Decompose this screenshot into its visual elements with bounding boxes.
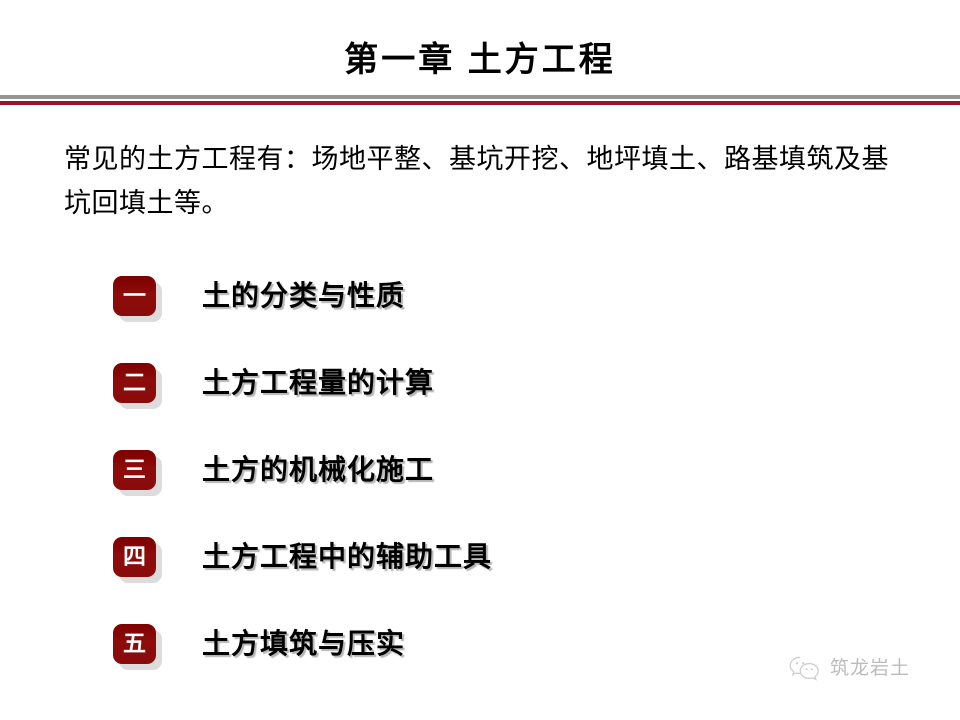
badge-face: 一 xyxy=(113,276,156,316)
list-item[interactable]: 三 土方的机械化施工 xyxy=(0,444,960,531)
list-item[interactable]: 四 土方工程中的辅助工具 xyxy=(0,531,960,618)
watermark: 筑龙岩土 xyxy=(788,655,910,683)
badge-face: 三 xyxy=(113,450,156,490)
intro-paragraph: 常见的土方工程有：场地平整、基坑开挖、地坪填土、路基填筑及基坑回填土等。 xyxy=(64,137,894,225)
slide-canvas: 第一章 土方工程 常见的土方工程有：场地平整、基坑开挖、地坪填土、路基填筑及基坑… xyxy=(0,0,960,720)
wechat-icon xyxy=(788,655,822,683)
badge-face: 二 xyxy=(113,363,156,403)
page-title: 第一章 土方工程 xyxy=(0,38,960,82)
badge-face: 四 xyxy=(113,537,156,577)
section-title-label: 土方的机械化施工 xyxy=(202,444,434,496)
watermark-text: 筑龙岩土 xyxy=(830,655,910,683)
divider-red-line xyxy=(0,101,960,105)
section-number-badge: 四 xyxy=(113,537,156,577)
section-number-badge: 三 xyxy=(113,450,156,490)
badge-number-label: 一 xyxy=(123,276,146,316)
section-number-badge: 二 xyxy=(113,363,156,403)
badge-face: 五 xyxy=(113,624,156,664)
list-item[interactable]: 二 土方工程量的计算 xyxy=(0,357,960,444)
badge-number-label: 五 xyxy=(123,624,146,664)
section-title-label: 土方工程中的辅助工具 xyxy=(202,531,492,583)
section-title-label: 土方工程量的计算 xyxy=(202,357,434,409)
list-item[interactable]: 一 土的分类与性质 xyxy=(0,270,960,357)
section-list: 一 土的分类与性质 二 土方工程量的计算 三 土方的机械化施工 xyxy=(0,270,960,705)
divider-gray-line xyxy=(0,95,960,99)
badge-number-label: 三 xyxy=(123,450,146,490)
section-title-label: 土的分类与性质 xyxy=(202,270,405,322)
section-number-badge: 一 xyxy=(113,276,156,316)
badge-number-label: 二 xyxy=(123,363,146,403)
section-title-label: 土方填筑与压实 xyxy=(202,618,405,670)
section-number-badge: 五 xyxy=(113,624,156,664)
badge-number-label: 四 xyxy=(123,537,146,577)
